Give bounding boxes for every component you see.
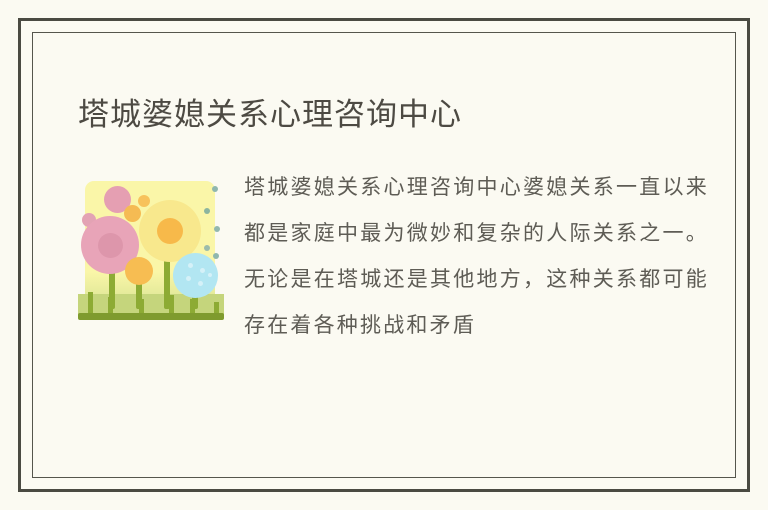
flower-garden-illustration [76,169,228,324]
speckle-teal-1 [212,186,218,192]
flower-blue-speck-3 [186,276,191,281]
page-title: 塔城婆媳关系心理咨询中心 [78,89,462,134]
illustration-ground-line [78,313,224,320]
flower-blue-speck-5 [208,273,212,277]
confetti-dot-orange-top [138,195,150,207]
article-block: 塔城婆媳关系心理咨询中心婆媳关系一直以来都是家庭中最为微妙和复杂的人际关系之一。… [76,164,709,348]
speckle-teal-3 [214,226,220,232]
flower-head-orange [125,257,153,285]
speckle-teal-2 [204,208,210,214]
flower-core-yellow [157,218,183,244]
confetti-dot-orange-mid [124,205,141,222]
flower-blue-speck-2 [200,268,205,273]
page-content: 塔城婆媳关系心理咨询中心 [51,51,717,459]
speckle-teal-5 [213,253,219,259]
speckle-teal-4 [204,245,210,251]
page-root: 塔城婆媳关系心理咨询中心 [0,0,768,510]
page-frame-outer: 塔城婆媳关系心理咨询中心 [18,18,750,492]
flower-core-pink [98,233,123,258]
flower-blue-speck-4 [198,281,203,286]
flower-blue-speck-1 [188,263,193,268]
